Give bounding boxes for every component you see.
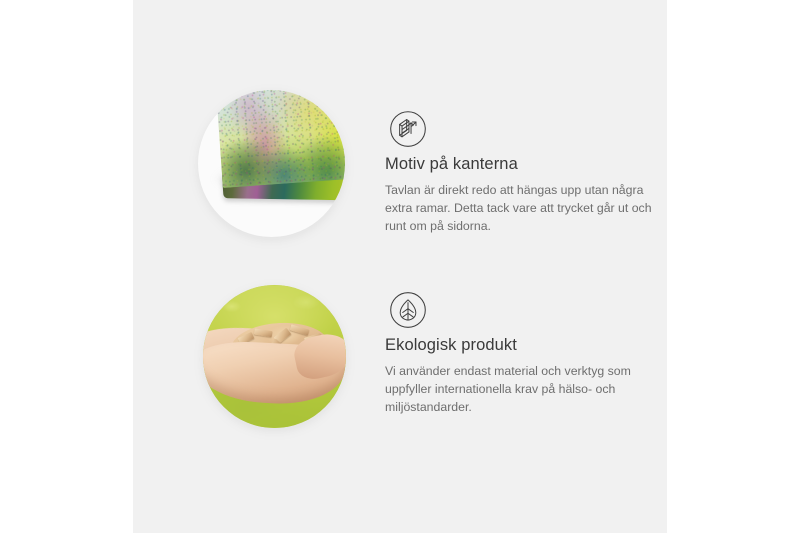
leaf-icon — [389, 291, 427, 329]
canvas-edge-print-icon — [389, 110, 427, 148]
canvas-print-photo — [198, 90, 345, 237]
feature-title: Ekologisk produkt — [385, 336, 673, 355]
feature-title: Motiv på kanterna — [385, 155, 653, 174]
feature-description: Vi använder endast material och verktyg … — [385, 362, 673, 417]
canvas-front-face — [216, 90, 345, 188]
feature-description: Tavlan är direkt redo att hängas upp uta… — [385, 181, 653, 236]
canvas-paint-texture — [216, 90, 345, 188]
feature-text-eco-product: Ekologisk produkt Vi använder endast mat… — [385, 336, 673, 417]
canvas-frame — [216, 90, 345, 237]
product-info-page: Motiv på kanterna Tavlan är direkt redo … — [0, 0, 800, 533]
feature-text-canvas-edges: Motiv på kanterna Tavlan är direkt redo … — [385, 155, 653, 236]
wood-chips-hands-photo — [203, 285, 346, 428]
content-panel: Motiv på kanterna Tavlan är direkt redo … — [133, 0, 667, 533]
